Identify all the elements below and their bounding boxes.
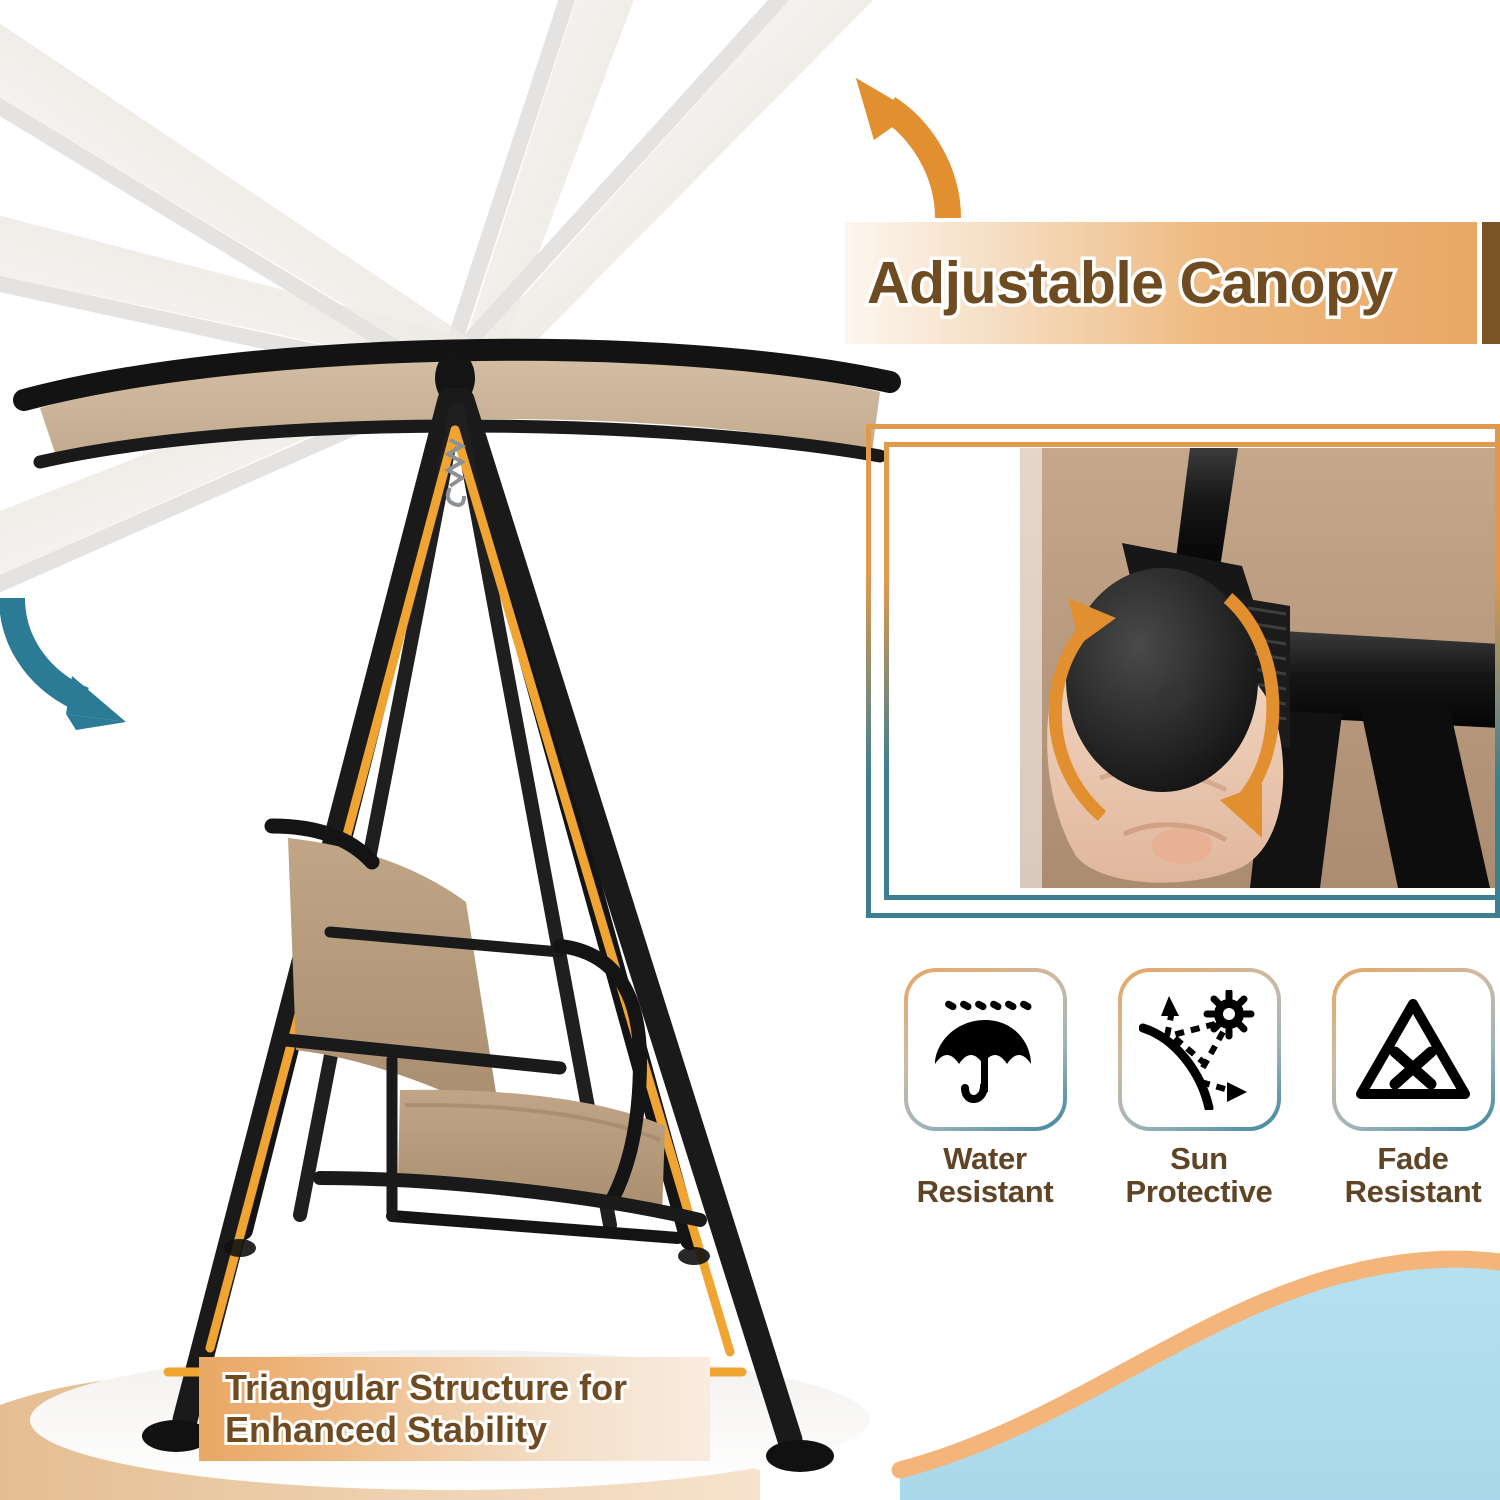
- curved-arrow-up-icon: [856, 78, 948, 218]
- feature-label-line2: Resistant: [1345, 1174, 1482, 1209]
- badge-box-fade: [1332, 968, 1495, 1131]
- feature-label-line2: Resistant: [917, 1174, 1054, 1209]
- caption-line-1: Triangular Structure for: [225, 1367, 710, 1409]
- feature-water-resistant: Water Resistant: [900, 968, 1070, 1240]
- feature-badges: Water Resistant: [900, 968, 1500, 1240]
- stability-caption-banner: Triangular Structure for Enhanced Stabil…: [199, 1357, 710, 1461]
- title-edge-bar: [1482, 222, 1500, 344]
- feature-label-water: Water Resistant: [917, 1143, 1054, 1209]
- feature-label-line2: Protective: [1126, 1174, 1273, 1209]
- curved-arrow-down-icon: [12, 598, 126, 730]
- inset-frame-inner: [884, 442, 1500, 900]
- feature-label-line1: Water: [943, 1141, 1026, 1176]
- page-title: Adjustable Canopy: [867, 249, 1393, 317]
- knob-detail-inset: [866, 424, 1500, 918]
- feature-label-line1: Sun: [1170, 1141, 1228, 1176]
- caption-line-2: Enhanced Stability: [225, 1409, 710, 1451]
- feature-sun-protective: Sun Protective: [1114, 968, 1284, 1240]
- fade-warning-icon: [1353, 990, 1473, 1110]
- feature-label-line1: Fade: [1377, 1141, 1448, 1176]
- sun-deflect-icon: [1139, 990, 1259, 1110]
- feature-label-sun: Sun Protective: [1126, 1143, 1273, 1209]
- badge-box-water: [904, 968, 1067, 1131]
- badge-box-sun: [1118, 968, 1281, 1131]
- infographic-canvas: Adjustable Canopy: [0, 0, 1500, 1500]
- feature-label-fade: Fade Resistant: [1345, 1143, 1482, 1209]
- umbrella-rain-icon: [925, 990, 1045, 1110]
- title-banner: Adjustable Canopy: [845, 222, 1477, 344]
- feature-fade-resistant: Fade Resistant: [1328, 968, 1498, 1240]
